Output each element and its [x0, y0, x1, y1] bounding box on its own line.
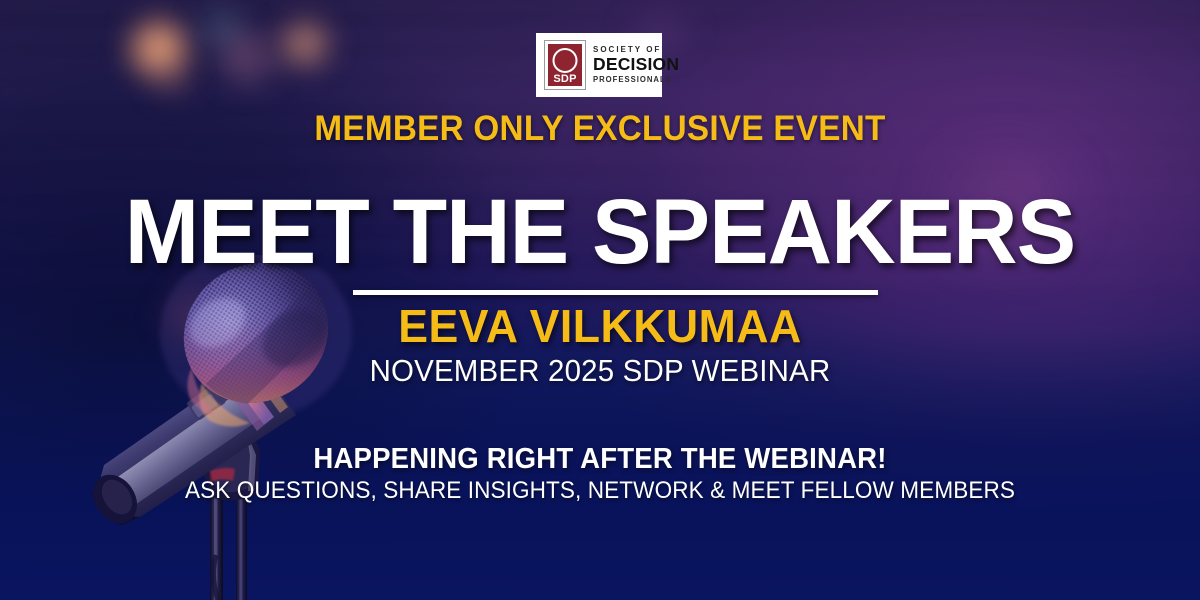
sdp-logo-line-2: DECISION — [593, 56, 679, 74]
sdp-logo-abbreviation: SDP — [548, 74, 582, 85]
sdp-logo: SDP SOCIETY OF DECISION PROFESSIONALS — [536, 33, 662, 97]
divider — [353, 290, 878, 295]
event-promo-poster: SDP SOCIETY OF DECISION PROFESSIONALS ME… — [0, 0, 1200, 600]
sdp-logo-mark-inner: SDP — [548, 44, 582, 86]
cta-subtext: ASK QUESTIONS, SHARE INSIGHTS, NETWORK &… — [36, 479, 1164, 503]
eyebrow-text: MEMBER ONLY EXCLUSIVE EVENT — [30, 109, 1170, 149]
sdp-logo-line-1: SOCIETY OF — [593, 46, 679, 54]
sdp-logo-wordmark: SOCIETY OF DECISION PROFESSIONALS — [593, 46, 679, 84]
bokeh-light-icon — [212, 28, 282, 88]
sdp-logo-mark: SDP — [544, 40, 586, 90]
sdp-logo-line-3: PROFESSIONALS — [593, 76, 676, 84]
webinar-date-label: NOVEMBER 2025 SDP WEBINAR — [30, 355, 1170, 386]
bokeh-light-icon — [150, 60, 196, 100]
cta-headline: HAPPENING RIGHT AFTER THE WEBINAR! — [30, 445, 1170, 474]
circle-icon — [553, 48, 578, 73]
bokeh-light-icon — [278, 20, 332, 68]
speaker-name: EEVA VILKKUMAA — [18, 303, 1182, 349]
page-title: MEET THE SPEAKERS — [18, 186, 1182, 278]
